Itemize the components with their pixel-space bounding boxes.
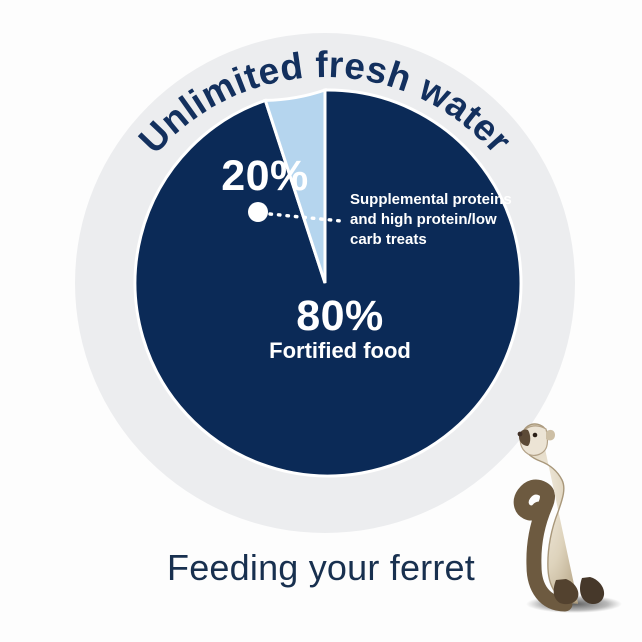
callout-anchor-dot xyxy=(248,202,268,222)
supplemental-percent-label: 20% xyxy=(221,152,309,200)
ferret-eye xyxy=(533,433,538,438)
feeding-ferret-infographic: Unlimited fresh water 20% Supplemental p… xyxy=(0,0,642,642)
fortified-percent-label: 80% xyxy=(296,292,384,340)
callout-line-3: carb treats xyxy=(350,231,427,248)
callout-line-2: and high protein/low xyxy=(350,211,497,228)
callout-line-1: Supplemental proteins xyxy=(350,191,512,208)
ferret-nose xyxy=(518,432,523,437)
caption: Feeding your ferret xyxy=(167,547,475,588)
fortified-name-label: Fortified food xyxy=(269,338,411,363)
pie-slice-fortified-food[interactable] xyxy=(135,90,521,476)
